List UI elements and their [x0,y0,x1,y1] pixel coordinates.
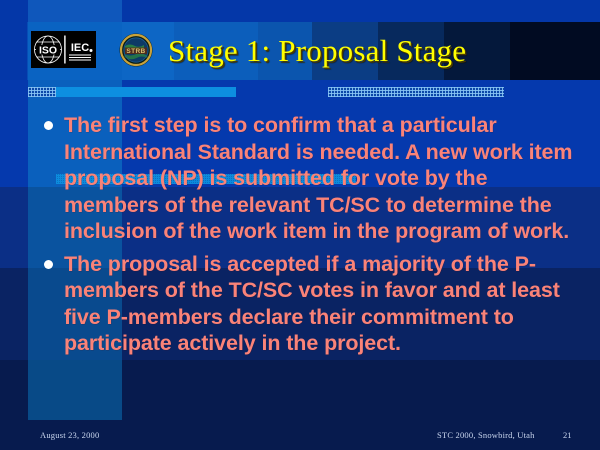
page-title: Stage 1: Proposal Stage [168,25,588,77]
svg-text:ISO: ISO [39,44,57,56]
footer-date: August 23, 2000 [40,430,99,440]
left-band-segment [28,0,122,22]
bullet-dot-icon [44,260,53,269]
bullet-text: The proposal is accepted if a majority o… [64,251,574,357]
divider-solid-fill [56,87,236,97]
presentation-slide: ISO IEC STRB Stage 1: Proposal Stage [0,0,600,450]
left-band-segment [28,360,122,420]
slide-body: The first step is to confirm that a part… [44,112,574,363]
list-item: The first step is to confirm that a part… [44,112,574,245]
bullet-text: The first step is to confirm that a part… [64,112,574,245]
globe-emblem-svg: STRB [118,33,154,67]
iso-iec-logo: ISO IEC [31,31,96,68]
list-item: The proposal is accepted if a majority o… [44,251,574,357]
svg-text:IEC: IEC [71,42,89,54]
iso-iec-logo-svg: ISO IEC [31,31,96,68]
bullet-dot-icon [44,121,53,130]
svg-text:STRB: STRB [126,48,145,55]
divider-right-checker [328,87,504,97]
globe-emblem-logo: STRB [118,33,154,67]
divider-left-checker [28,87,56,97]
footer-page-number: 21 [563,430,572,440]
footer-event: STC 2000, Snowbird, Utah [437,430,535,440]
